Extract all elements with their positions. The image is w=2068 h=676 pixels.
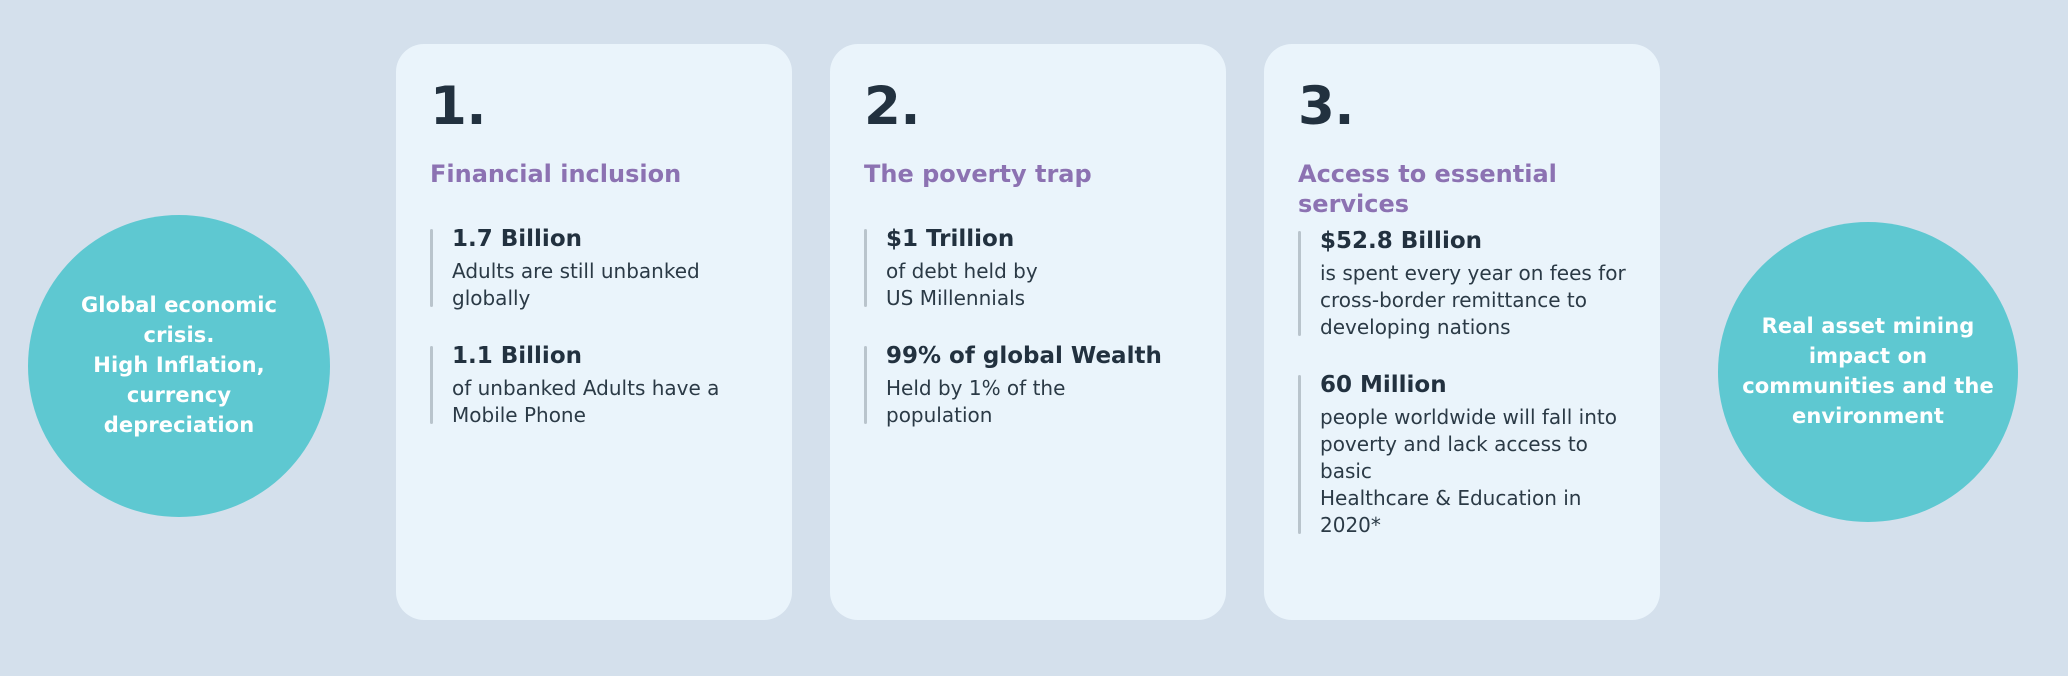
card-number: 3. xyxy=(1298,80,1626,133)
stat-description: of unbanked Adults have a Mobile Phone xyxy=(452,375,758,429)
stat-rule-icon xyxy=(430,346,433,424)
stat-rule-icon xyxy=(1298,375,1301,534)
stat-description: is spent every year on fees for cross-bo… xyxy=(1320,260,1626,341)
stat-description: Adults are still unbanked globally xyxy=(452,258,758,312)
stat-item: 1.7 Billion Adults are still unbanked gl… xyxy=(430,225,758,312)
right-circle-text: Real asset mining impact on communities … xyxy=(1736,312,2000,431)
stat-value: $1 Trillion xyxy=(886,225,1192,255)
card-financial-inclusion: 1. Financial inclusion 1.7 Billion Adult… xyxy=(396,44,792,620)
cards-row: 1. Financial inclusion 1.7 Billion Adult… xyxy=(396,44,1660,620)
stat-item: 60 Million people worldwide will fall in… xyxy=(1298,371,1626,539)
stat-value: 1.1 Billion xyxy=(452,342,758,372)
stat-value: 1.7 Billion xyxy=(452,225,758,255)
stat-description: people worldwide will fall into poverty … xyxy=(1320,404,1626,539)
right-context-circle: Real asset mining impact on communities … xyxy=(1718,222,2018,522)
card-essential-services: 3. Access to essential services $52.8 Bi… xyxy=(1264,44,1660,620)
left-circle-text: Global economic crisis. High Inflation, … xyxy=(58,291,300,440)
stat-rule-icon xyxy=(430,229,433,307)
card-heading: Financial inclusion xyxy=(430,159,758,189)
stat-item: $52.8 Billion is spent every year on fee… xyxy=(1298,227,1626,341)
stat-value: 99% of global Wealth xyxy=(886,342,1192,372)
stat-item: 99% of global Wealth Held by 1% of the p… xyxy=(864,342,1192,429)
stat-rule-icon xyxy=(864,346,867,424)
infographic-canvas: Global economic crisis. High Inflation, … xyxy=(0,0,2068,676)
stat-value: 60 Million xyxy=(1320,371,1626,401)
card-poverty-trap: 2. The poverty trap $1 Trillion of debt … xyxy=(830,44,1226,620)
card-heading: Access to essential services xyxy=(1298,159,1626,219)
stat-rule-icon xyxy=(1298,231,1301,336)
stat-item: $1 Trillion of debt held by US Millennia… xyxy=(864,225,1192,312)
stat-value: $52.8 Billion xyxy=(1320,227,1626,257)
stat-rule-icon xyxy=(864,229,867,307)
card-number: 2. xyxy=(864,80,1192,133)
stat-item: 1.1 Billion of unbanked Adults have a Mo… xyxy=(430,342,758,429)
card-number: 1. xyxy=(430,80,758,133)
card-heading: The poverty trap xyxy=(864,159,1192,189)
stat-description: Held by 1% of the population xyxy=(886,375,1192,429)
left-context-circle: Global economic crisis. High Inflation, … xyxy=(28,215,330,517)
stat-description: of debt held by US Millennials xyxy=(886,258,1192,312)
